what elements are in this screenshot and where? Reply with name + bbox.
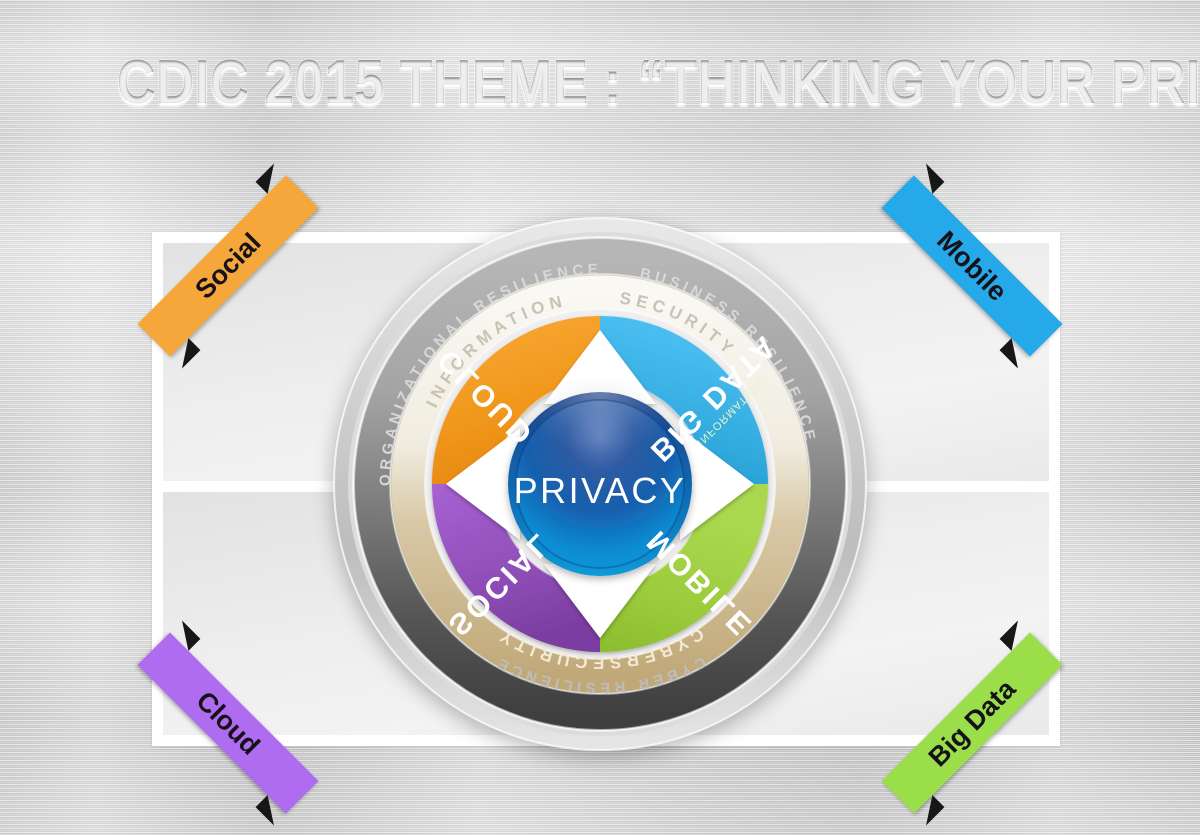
privacy-label: PRIVACY	[514, 470, 687, 511]
ribbon-tail-icon	[256, 795, 286, 825]
ribbon-tail-icon	[256, 163, 286, 193]
ribbon-tail-icon	[914, 163, 944, 193]
page-title-text: CDIC 2015 THEME : “THINKING YOUR PRIVACY…	[117, 52, 1200, 114]
slide-canvas: CDIC 2015 THEME : “THINKING YOUR PRIVACY…	[0, 0, 1200, 835]
ribbon-tail-icon	[914, 795, 944, 825]
privacy-wheel-diagram: ORGANIZATIONAL RESILIENCE BUSINESS RESIL…	[330, 214, 870, 754]
page-title: CDIC 2015 THEME : “THINKING YOUR PRIVACY…	[0, 52, 1200, 114]
